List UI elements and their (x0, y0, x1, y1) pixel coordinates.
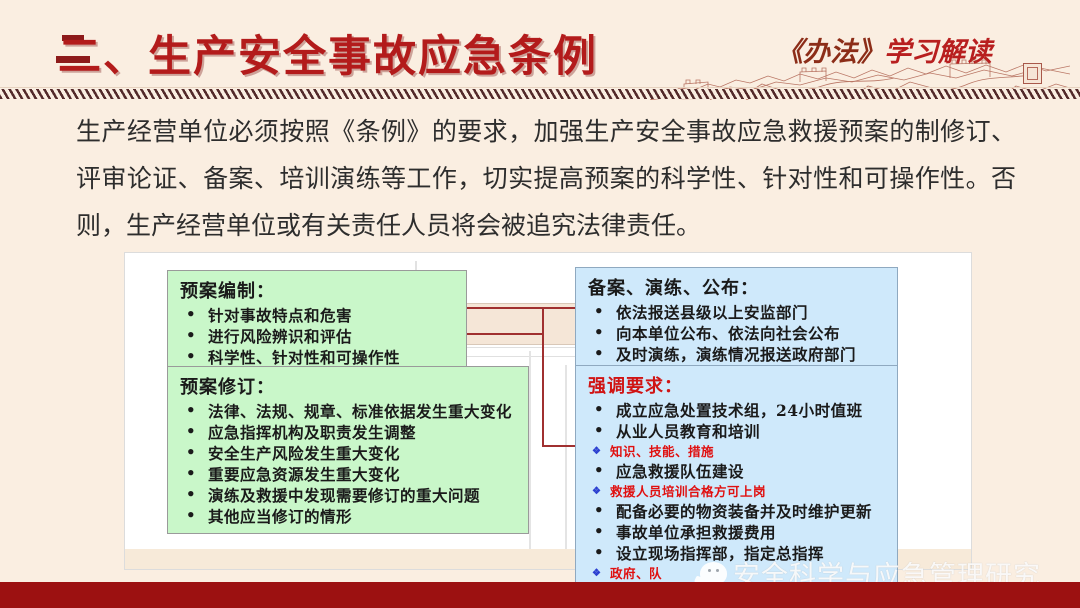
list-item: 法律、法规、规章、标准依据发生重大变化 (178, 401, 520, 422)
list-item: 配备必要的物资装备并及时维护更新 (586, 501, 889, 522)
list-item: 向本单位公布、依法向社会公布 (586, 323, 889, 344)
footer-bar (0, 582, 1080, 608)
slide-header: 二、生产安全事故应急条例 《办法》学习解读 (0, 0, 1080, 96)
box-title: 备案、演练、公布： (588, 274, 889, 300)
diagram-box-emphasized-requirements: 强调要求： 成立应急处置技术组，24小时值班 从业人员教育和培训 知识、技能、措… (575, 365, 898, 590)
list-item: 设立现场指挥部，指定总指挥 (586, 543, 889, 564)
diagram-box-plan-preparation: 预案编制： 针对事故特点和危害 进行风险辨识和评估 科学性、针对性和可操作性 (167, 270, 467, 375)
divider-hairline (0, 87, 1080, 88)
page-title: 二、生产安全事故应急条例 (58, 22, 598, 84)
presentation-slide: 二、生产安全事故应急条例 《办法》学习解读 (0, 0, 1080, 608)
list-item: 应急救援队伍建设 (586, 461, 889, 482)
body-paragraph: 生产经营单位必须按照《条例》的要求，加强生产安全事故应急救援预案的制修订、评审论… (76, 108, 1016, 249)
connector-vertical-right (542, 307, 544, 335)
list-item-sub: 知识、技能、措施 (586, 442, 889, 461)
seal-stamp-icon (1023, 63, 1042, 84)
diagram-image-panel: 预案编制： 针对事故特点和危害 进行风险辨识和评估 科学性、针对性和可操作性 预… (124, 252, 972, 570)
ghost-frame-5 (565, 365, 567, 551)
hatch-divider (0, 89, 1080, 99)
list-item: 其他应当修订的情形 (178, 506, 520, 527)
box-title: 强调要求： (588, 372, 889, 398)
list-item: 科学性、针对性和可操作性 (178, 347, 458, 368)
connector-horizontal-bottom (542, 445, 575, 447)
box-title: 预案修订： (180, 373, 520, 399)
box-item-list: 成立应急处置技术组，24小时值班 从业人员教育和培训 知识、技能、措施 应急救援… (586, 400, 889, 583)
list-item: 依法报送县级以上安监部门 (586, 302, 889, 323)
list-item: 事故单位承担救援费用 (586, 522, 889, 543)
list-item-sub: 救援人员培训合格方可上岗 (586, 482, 889, 501)
diagram-box-plan-revision: 预案修订： 法律、法规、规章、标准依据发生重大变化 应急指挥机构及职责发生调整 … (167, 366, 529, 534)
connector-vertical-down (542, 333, 544, 447)
diagram-box-record-drill-publish: 备案、演练、公布： 依法报送县级以上安监部门 向本单位公布、依法向社会公布 及时… (575, 267, 898, 372)
connector-horizontal-mid (465, 333, 543, 335)
list-item: 及时演练，演练情况报送政府部门 (586, 344, 889, 365)
list-item: 针对事故特点和危害 (178, 305, 458, 326)
list-item-sub: 政府、队 (586, 564, 889, 583)
box-item-list: 针对事故特点和危害 进行风险辨识和评估 科学性、针对性和可操作性 (178, 305, 458, 368)
list-item: 演练及救援中发现需要修订的重大问题 (178, 485, 520, 506)
list-item: 安全生产风险发生重大变化 (178, 443, 520, 464)
list-item: 从业人员教育和培训 (586, 421, 889, 442)
list-item: 重要应急资源发生重大变化 (178, 464, 520, 485)
ghost-frame-4 (529, 351, 531, 551)
box-title: 预案编制： (180, 277, 458, 303)
diagram-canvas: 预案编制： 针对事故特点和危害 进行风险辨识和评估 科学性、针对性和可操作性 预… (125, 253, 971, 569)
list-item: 进行风险辨识和评估 (178, 326, 458, 347)
box-item-list: 依法报送县级以上安监部门 向本单位公布、依法向社会公布 及时演练，演练情况报送政… (586, 302, 889, 365)
list-item: 成立应急处置技术组，24小时值班 (586, 400, 889, 421)
list-item: 应急指挥机构及职责发生调整 (178, 422, 520, 443)
box-item-list: 法律、法规、规章、标准依据发生重大变化 应急指挥机构及职责发生调整 安全生产风险… (178, 401, 520, 527)
